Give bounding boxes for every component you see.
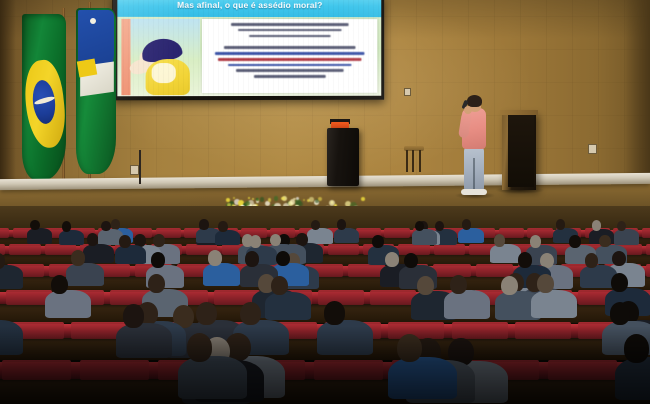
slide-text-line (218, 58, 362, 61)
auditorium-scene: Mas afinal, o que é assédio moral? (0, 0, 650, 404)
presenter-hand (464, 106, 472, 114)
seat-row-back (0, 379, 650, 404)
audience-member-head (592, 220, 601, 230)
flower-blossom (318, 197, 322, 201)
slide-text-line (238, 29, 343, 32)
audience-member-shoulders (203, 263, 241, 286)
audience-member-shoulders (615, 357, 650, 400)
wall-outlet-right (588, 144, 597, 154)
audience-member-shoulders (27, 228, 52, 244)
audience-member-shoulders (458, 228, 483, 244)
flower-blossom (256, 198, 259, 201)
slide-text-line (254, 75, 326, 78)
audience-member-head (151, 252, 165, 268)
seat[interactable] (642, 228, 650, 238)
seat[interactable] (0, 228, 9, 238)
seat[interactable] (646, 264, 650, 277)
audience-member-head (62, 221, 71, 231)
illustration-highlight (152, 63, 176, 83)
audience-member-head (556, 219, 565, 229)
seat[interactable] (434, 244, 465, 255)
wall-outlet-center (130, 165, 139, 175)
audience-member-head (385, 252, 399, 268)
presenter-hair (467, 95, 482, 107)
illustration-accent-bar (121, 19, 130, 95)
state-flag-star (90, 18, 96, 24)
flower-blossom (245, 201, 250, 206)
seat[interactable] (370, 290, 416, 305)
slide-title: Mas afinal, o que é assédio moral? (117, 0, 381, 10)
audience-member-head (245, 251, 259, 267)
audience-member-shoulders (45, 290, 91, 319)
audience-member-head (337, 219, 346, 229)
stool-leg-3 (419, 150, 421, 172)
slide-text-line (231, 23, 349, 26)
audience-member-head (417, 276, 434, 295)
audience-member-head (397, 334, 423, 363)
flower-blossom (268, 198, 271, 201)
audience-member-head (208, 250, 222, 266)
audience-member-head (311, 220, 320, 230)
stool-leg-2 (412, 150, 414, 172)
audience-member-shoulders (66, 263, 104, 286)
stool-leg-1 (406, 150, 408, 172)
audience-member-head (462, 219, 471, 229)
audience-member-head (101, 221, 110, 231)
presenter-leg-gap (473, 158, 475, 191)
amplifier-case (327, 128, 359, 186)
wall-corner-left (0, 0, 16, 200)
audience-member-head (404, 253, 418, 269)
audience-member-head (612, 251, 626, 267)
audience-member-head (624, 334, 650, 363)
podium-front-panel (508, 115, 534, 187)
seat[interactable] (9, 244, 40, 255)
slide-text-line (236, 69, 344, 72)
flower-blossom (303, 199, 305, 201)
audience-member-shoulders (307, 228, 332, 244)
flower-blossom (260, 197, 265, 202)
audience-member-head (611, 273, 628, 292)
audience-member-head (196, 302, 217, 325)
state-flag-yellow-band (77, 59, 98, 78)
audience-member-head (119, 235, 131, 248)
audience-member-shoulders (334, 228, 359, 244)
audience-member-head (218, 221, 227, 231)
microphone-stand (139, 150, 141, 184)
audience-member-head (30, 220, 39, 230)
flower-blossom (361, 197, 365, 201)
presentation-slide: Mas afinal, o que é assédio moral? (117, 0, 381, 96)
brazil-flag (22, 14, 66, 180)
seat[interactable] (2, 360, 71, 380)
audience-member-head (501, 276, 518, 295)
flower-blossom (233, 197, 235, 199)
slide-text-block (202, 19, 377, 93)
audience-member-head (324, 301, 345, 324)
audience-member-head (530, 235, 542, 248)
seat[interactable] (646, 244, 650, 255)
audience-member-head (240, 302, 261, 325)
flower-blossom (252, 198, 254, 200)
audience-member-head (199, 219, 208, 229)
audience-member-head (494, 234, 506, 247)
audience-member-head (518, 252, 532, 268)
flower-blossom (248, 197, 250, 199)
audience-member-shoulders (265, 292, 311, 321)
seat[interactable] (384, 228, 409, 238)
audience-member-head (153, 234, 165, 247)
audience-member-head (569, 235, 581, 248)
audience-member-shoulders (412, 229, 437, 245)
flower-blossom (296, 197, 299, 200)
seat[interactable] (548, 360, 617, 380)
projection-screen[interactable]: Mas afinal, o que é assédio moral? (112, 0, 384, 100)
audience-member-shoulders (388, 357, 457, 400)
audience-member-head (123, 304, 144, 327)
audience-member-shoulders (444, 290, 490, 319)
podium-top-surface (500, 110, 538, 115)
state-flag (76, 8, 116, 174)
audience-member-shoulders (317, 320, 373, 355)
audience-member-head (372, 235, 384, 248)
audience-member-head (276, 251, 290, 267)
flower-blossom (274, 196, 279, 201)
audience-member-head (585, 253, 599, 269)
seat[interactable] (80, 360, 149, 380)
audience-member-head (537, 274, 554, 293)
slide-illustration (121, 19, 200, 95)
seat[interactable] (314, 360, 383, 380)
flower-blossom (309, 197, 313, 201)
slide-text-line (228, 64, 352, 67)
audience-member-head (271, 276, 288, 295)
audience-member-shoulders (115, 245, 146, 264)
slide-text-line (249, 35, 331, 38)
audience-member-head (450, 275, 467, 294)
audience-member-shoulders (0, 265, 23, 288)
audience-member-shoulders (178, 356, 247, 399)
audience-member-head (599, 235, 611, 248)
audience-member-head (51, 275, 68, 294)
audience-member-shoulders (116, 323, 172, 358)
seat[interactable] (433, 264, 471, 277)
slide-body (117, 17, 381, 96)
slide-text-line (224, 46, 355, 49)
audience-member-shoulders (531, 290, 577, 319)
wall-outlet-mid (404, 88, 411, 96)
audience-member-head (148, 274, 165, 293)
audience-member-shoulders (59, 230, 84, 246)
audience-member-shoulders (83, 244, 114, 263)
audience-member-head (610, 302, 631, 325)
seat[interactable] (328, 244, 359, 255)
audience-member-shoulders (215, 230, 240, 246)
audience-member-shoulders (490, 244, 521, 263)
seat[interactable] (515, 322, 571, 339)
audience-member-head (187, 333, 213, 362)
audience-area: ESTUDANTE (0, 206, 650, 404)
audience-member-shoulders (614, 229, 639, 245)
audience-member-head (270, 234, 282, 247)
audience-member-head (71, 250, 85, 266)
slide-text-line (215, 52, 365, 55)
audience-member-head (435, 221, 444, 231)
seat[interactable] (452, 322, 508, 339)
presenter-shoes (461, 189, 487, 195)
